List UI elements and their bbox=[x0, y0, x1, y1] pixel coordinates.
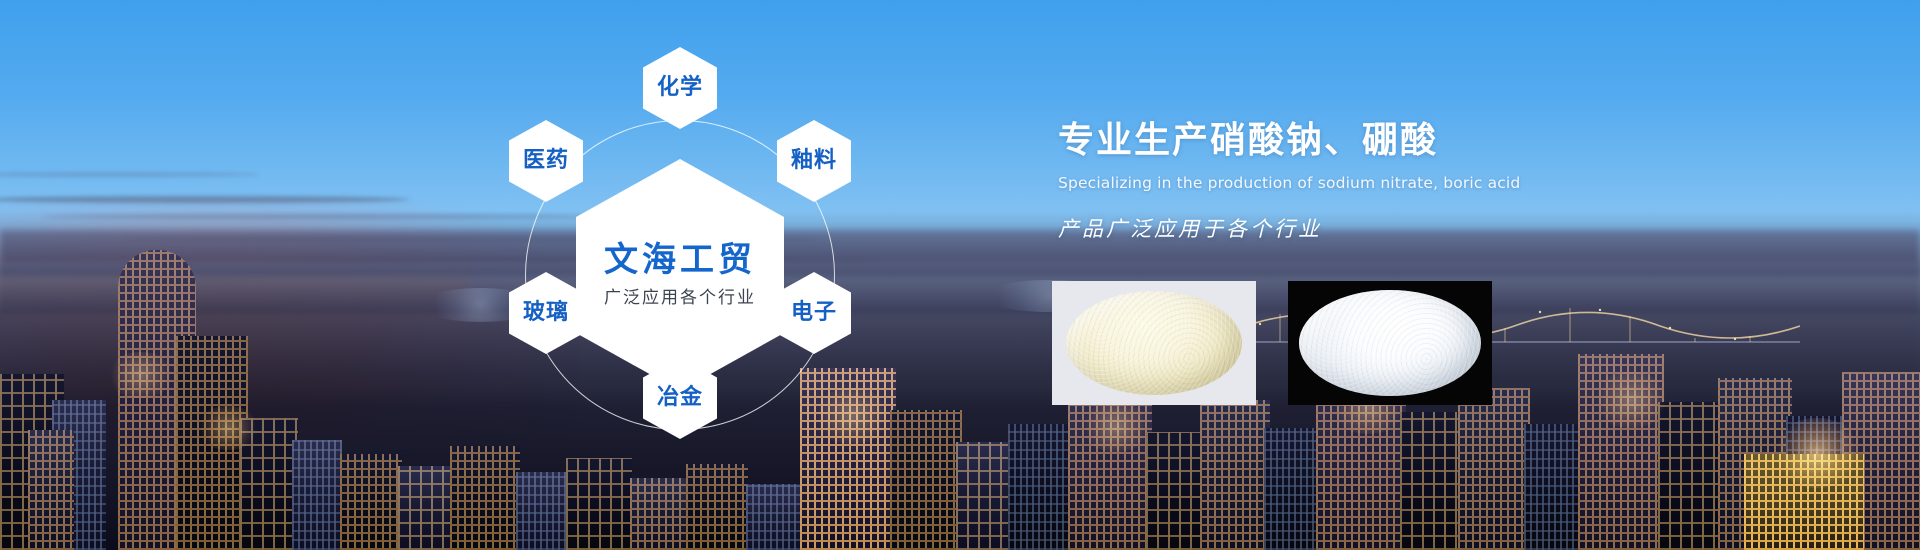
hex-node-label: 冶金 bbox=[657, 387, 703, 409]
hex-node-chemical[interactable]: 化学 bbox=[643, 47, 717, 129]
building bbox=[1458, 388, 1530, 550]
marketing-copy: 专业生产硝酸钠、硼酸 Specializing in the productio… bbox=[1058, 120, 1698, 242]
promotional-banner: 文海工贸 广泛应用各个行业 化学 釉料 电子 冶金 玻璃 医药 专业生产硝酸钠、… bbox=[0, 0, 1920, 550]
company-name: 文海工贸 bbox=[604, 243, 756, 277]
powder-grain-texture bbox=[1066, 291, 1242, 395]
building bbox=[340, 454, 402, 550]
building bbox=[1008, 424, 1074, 550]
light-glow bbox=[106, 352, 176, 398]
hex-node-label: 化学 bbox=[657, 77, 703, 99]
building bbox=[1524, 424, 1584, 550]
hex-node-label: 釉料 bbox=[791, 150, 837, 172]
hex-node-label: 玻璃 bbox=[523, 302, 569, 324]
hex-node-label: 电子 bbox=[791, 302, 837, 324]
product-photo-gallery bbox=[1052, 281, 1492, 405]
hex-node-label: 医药 bbox=[523, 150, 569, 172]
building bbox=[956, 442, 1014, 550]
light-glow bbox=[196, 406, 260, 450]
light-glow bbox=[1772, 418, 1862, 488]
company-tagline: 广泛应用各个行业 bbox=[604, 290, 756, 307]
product-photo-white-powder[interactable] bbox=[1288, 281, 1492, 405]
powder-pile bbox=[1299, 290, 1481, 396]
light-glow bbox=[1592, 372, 1670, 428]
subtitle-chinese: 产品广泛应用于各个行业 bbox=[1058, 217, 1698, 242]
building bbox=[1658, 402, 1724, 550]
city-skyline bbox=[0, 210, 1920, 550]
building bbox=[1400, 412, 1464, 550]
light-glow bbox=[1080, 402, 1152, 452]
building bbox=[1200, 400, 1270, 550]
cloud-streak bbox=[0, 196, 410, 203]
subtitle-english: Specializing in the production of sodium… bbox=[1058, 174, 1698, 193]
building bbox=[1146, 432, 1206, 550]
industry-hexagon-diagram: 文海工贸 广泛应用各个行业 化学 釉料 电子 冶金 玻璃 医药 bbox=[430, 25, 930, 525]
building bbox=[1264, 428, 1322, 550]
powder-grain-texture bbox=[1299, 290, 1481, 396]
powder-pile bbox=[1066, 291, 1242, 395]
product-photo-cream-powder[interactable] bbox=[1052, 281, 1256, 405]
building bbox=[28, 430, 74, 550]
building bbox=[292, 440, 342, 550]
page-title: 专业生产硝酸钠、硼酸 bbox=[1058, 120, 1698, 162]
